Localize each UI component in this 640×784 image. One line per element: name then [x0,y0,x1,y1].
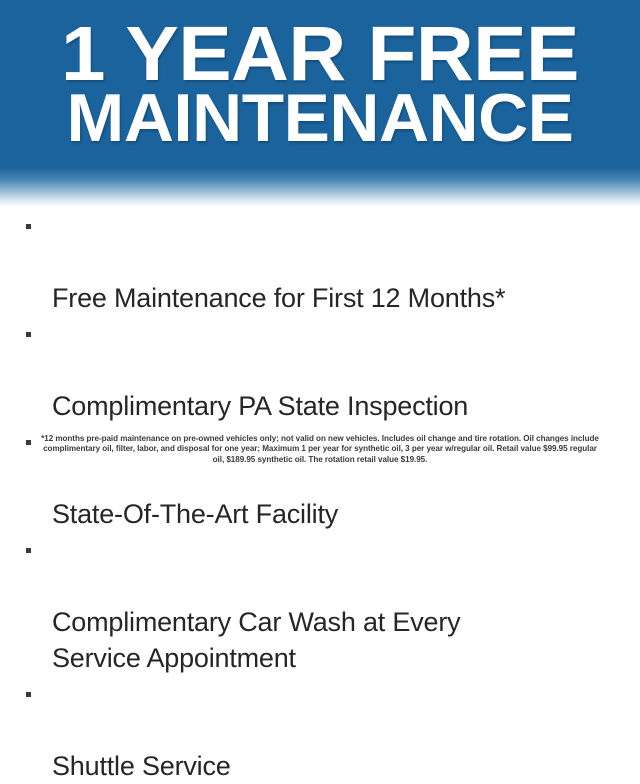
list-item: Free Maintenance for First 12 Months* [0,208,640,316]
disclaimer-text: *12 months pre-paid maintenance on pre-o… [40,434,600,465]
list-item: Shuttle Service [0,676,640,784]
hero-gradient-fade [0,167,640,207]
square-bullet-icon [26,440,31,445]
square-bullet-icon [26,224,31,229]
list-item-label: Complimentary Car Wash at Every Service … [52,607,460,673]
promotional-flyer: 1 YEAR FREE MAINTENANCE Free Maintenance… [0,0,640,480]
list-item-label: Complimentary PA State Inspection [52,391,468,421]
hero-banner: 1 YEAR FREE MAINTENANCE [0,0,640,167]
square-bullet-icon [26,332,31,337]
hero-headline-line-2: MAINTENANCE [0,84,640,152]
list-item-label: Free Maintenance for First 12 Months* [52,283,505,313]
square-bullet-icon [26,692,31,697]
list-item-label: Shuttle Service [52,751,231,781]
square-bullet-icon [26,548,31,553]
list-item: Complimentary PA State Inspection [0,316,640,424]
list-item-label: State-Of-The-Art Facility [52,499,338,529]
list-item: Complimentary Car Wash at Every Service … [0,532,640,676]
benefits-list: Free Maintenance for First 12 Months* Co… [0,208,640,784]
